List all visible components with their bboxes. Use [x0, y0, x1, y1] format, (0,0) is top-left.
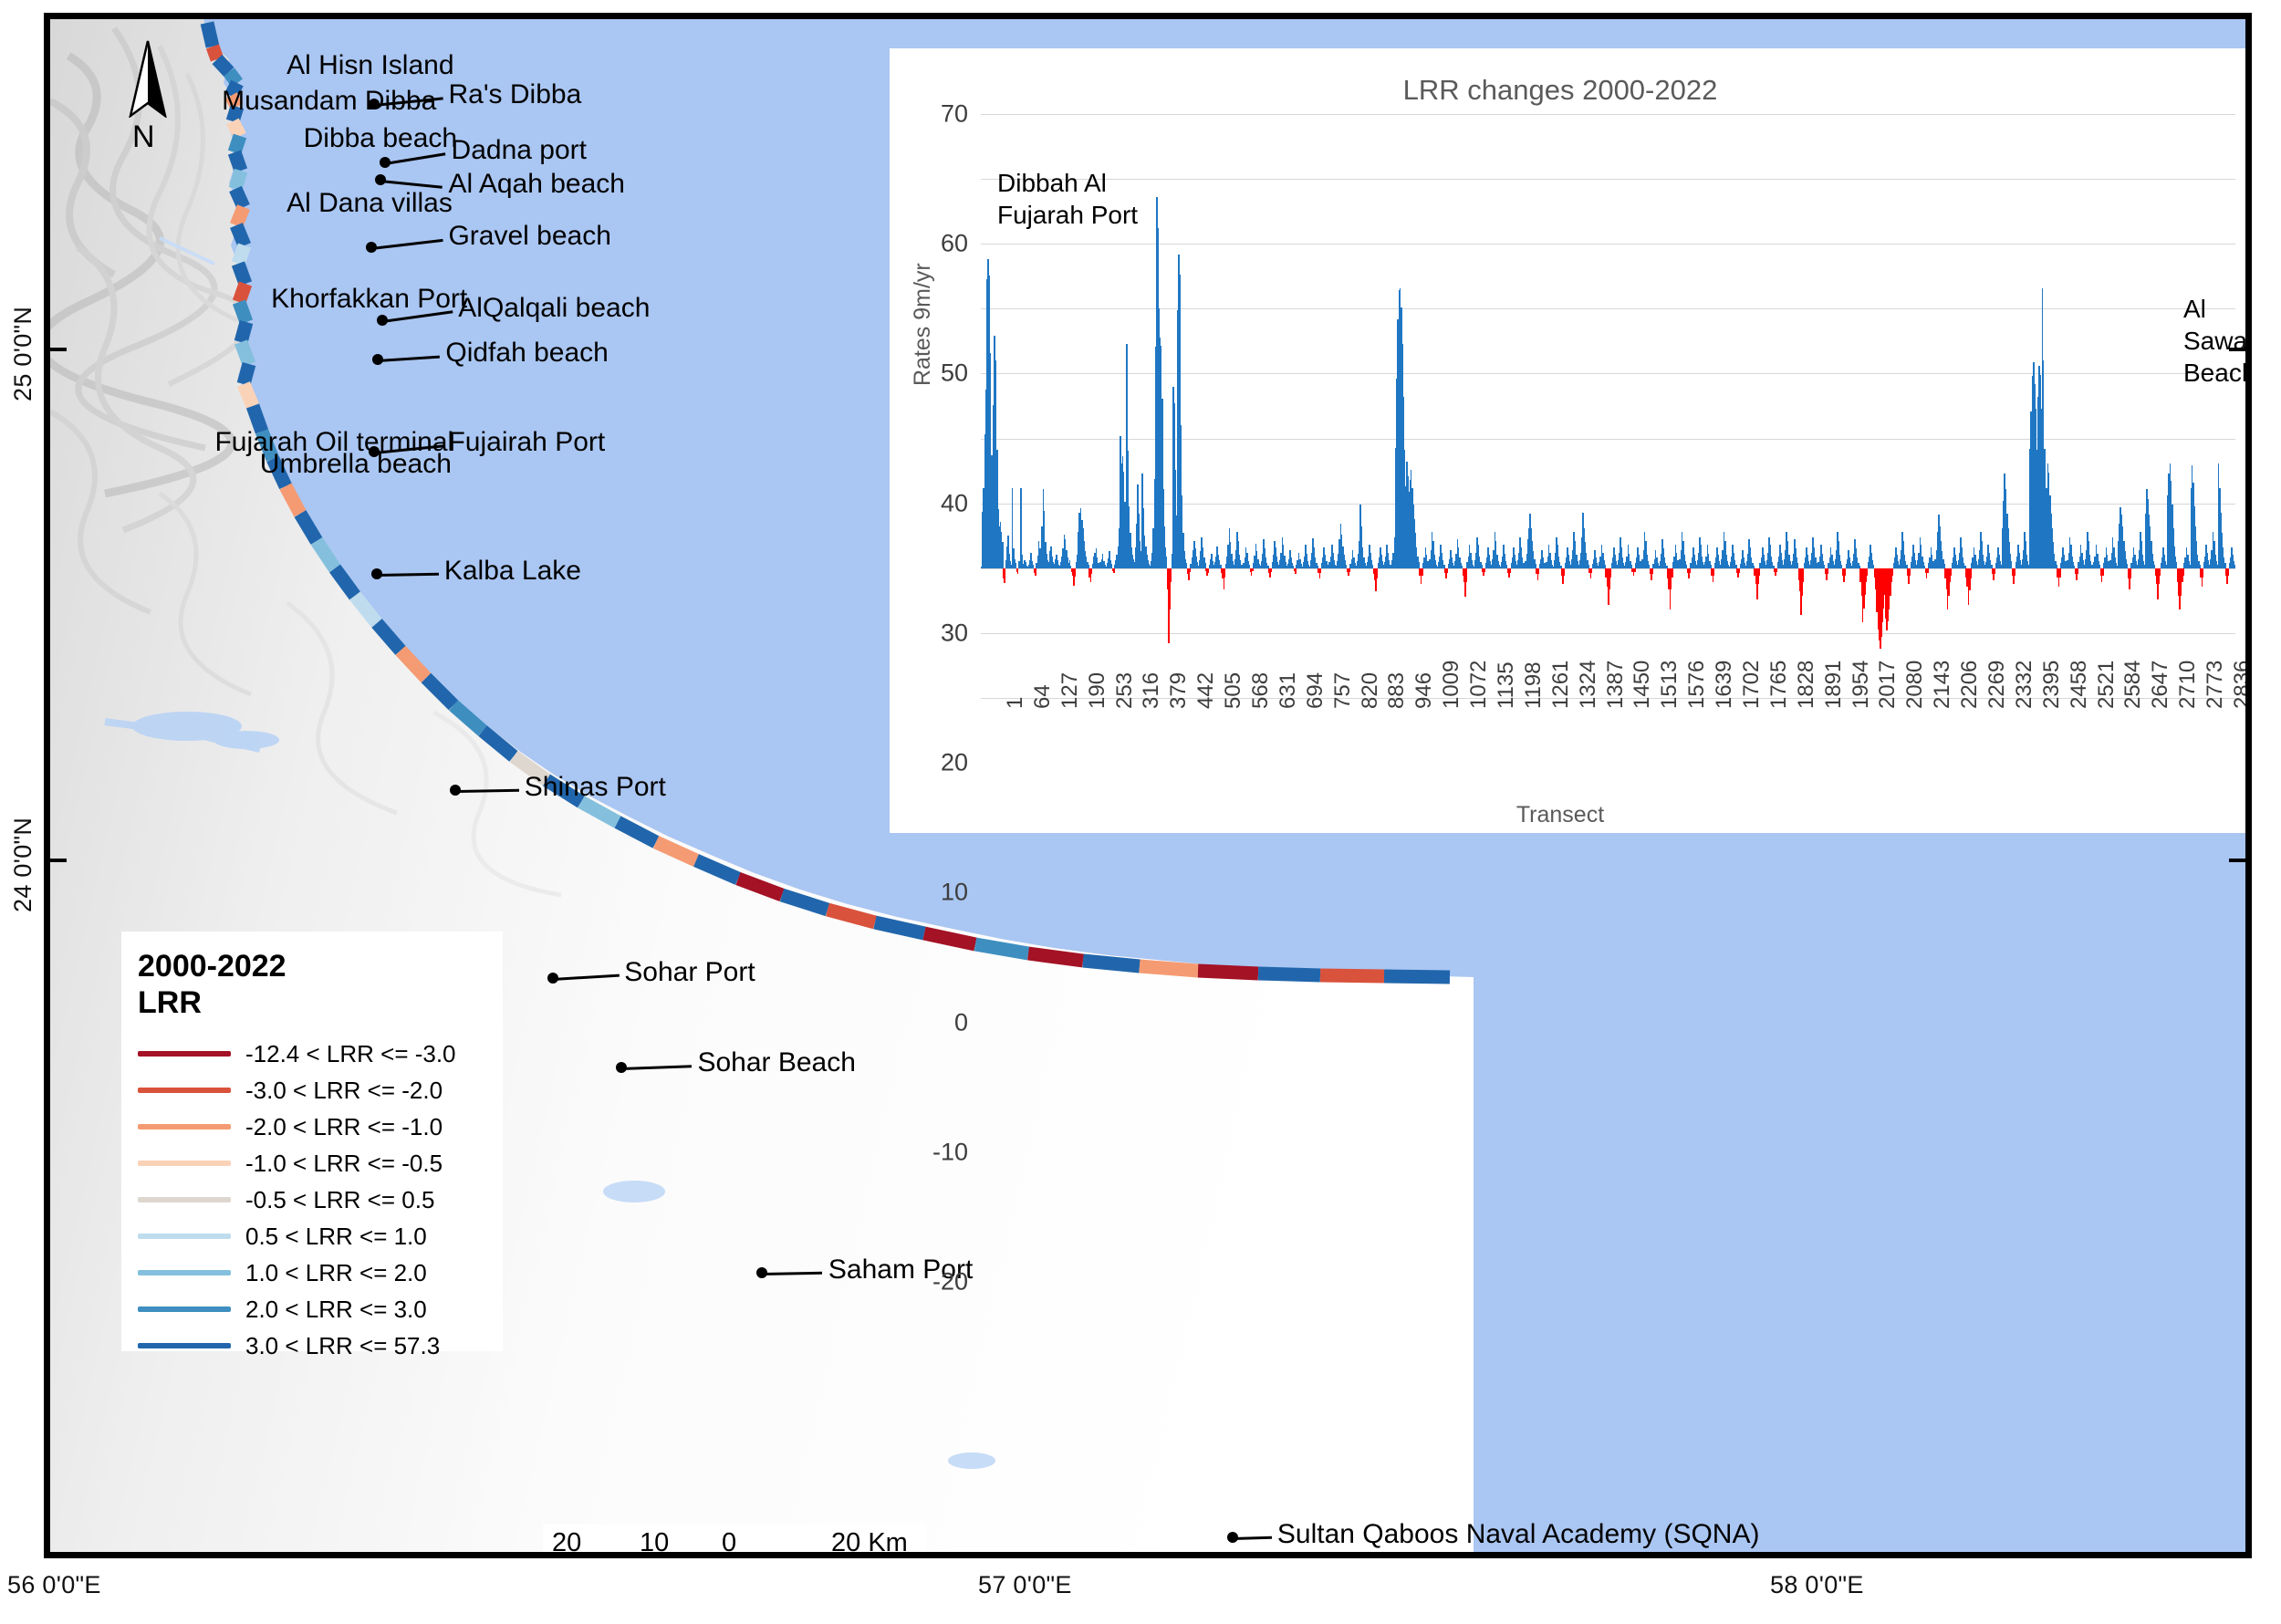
legend-color-swatch [138, 1343, 231, 1348]
chart-bar [1166, 557, 1168, 568]
chart-annotation-dibbah: Dibbah Al Fujarah Port [997, 167, 1143, 231]
chart-x-tick-label: 2080 [1902, 661, 1928, 709]
chart-bar [1091, 568, 1093, 574]
legend-class-label: -12.4 < LRR <= -3.0 [245, 1040, 456, 1068]
place-label: Umbrella beach [260, 450, 452, 479]
legend-color-swatch [138, 1234, 231, 1239]
chart-y-tick-label: 40 [941, 489, 968, 517]
chart-bar [1004, 568, 1005, 583]
map-frame: N 2000-2022 LRR -12.4 < LRR <= -3.0-3.0 … [44, 13, 2252, 1558]
chart-y-tick-label: 50 [941, 359, 968, 388]
map-legend: 2000-2022 LRR -12.4 < LRR <= -3.0-3.0 < … [121, 932, 503, 1351]
chart-bar [1776, 568, 1778, 572]
chart-x-tick-label: 1324 [1576, 661, 1601, 709]
north-arrow-icon [121, 39, 174, 118]
place-label: Kalba Lake [444, 557, 581, 586]
chart-x-tick-label: 2206 [1957, 661, 1983, 709]
chart-y-tick-label: 60 [941, 230, 968, 258]
legend-title-lrr: LRR [138, 984, 494, 1021]
chart-x-tick-label: 2710 [2175, 661, 2201, 709]
chart-bar [1349, 568, 1350, 572]
legend-color-swatch [138, 1161, 231, 1166]
chart-bar [1927, 568, 1929, 574]
chart-x-tick-label: 253 [1112, 672, 1138, 709]
chart-x-tick-label: 127 [1057, 672, 1083, 709]
chart-bar [1447, 568, 1449, 574]
chart-x-tick-label: 2017 [1875, 661, 1901, 709]
chart-bar [1002, 542, 1004, 568]
chart-x-tick-label: 820 [1358, 672, 1383, 709]
chart-bar [1803, 568, 1805, 582]
place-marker-dot [616, 1062, 627, 1073]
chart-bar [1609, 568, 1611, 578]
chart-x-tick-label: 2332 [2012, 661, 2037, 709]
chart-x-tick-label: 2143 [1930, 661, 1955, 709]
chart-y-tick-label: 70 [941, 100, 968, 129]
chart-bar [1320, 568, 1322, 573]
chart-x-tick-label: 1513 [1657, 661, 1682, 709]
chart-bars [981, 114, 2235, 698]
chart-x-tick-label: 1 [1003, 697, 1028, 709]
tick-lat-24-right [2229, 859, 2245, 862]
chart-bar [2203, 568, 2204, 578]
chart-title: LRR changes 2000-2022 [890, 74, 2231, 107]
place-label: Shinas Port [525, 773, 666, 802]
place-marker-dot [380, 157, 391, 168]
chart-bar [1910, 568, 1911, 577]
chart-bar [1970, 568, 1972, 578]
chart-x-tick-label: 2395 [2039, 661, 2065, 709]
chart-x-tick-label: 946 [1411, 672, 1437, 709]
place-label: Qidfah beach [445, 338, 608, 368]
chart-x-tick-label: 64 [1030, 684, 1056, 709]
tick-lat-25-right [2229, 348, 2245, 351]
chart-x-tick-label: 1954 [1849, 661, 1874, 709]
inset-chart: LRR changes 2000-2022 Rates 9m/yr 706050… [890, 48, 2252, 833]
place-label: AlQalqali beach [458, 294, 650, 323]
chart-bar [1224, 568, 1226, 578]
chart-x-tick-label: 757 [1330, 672, 1356, 709]
chart-x-axis-label: Transect [890, 802, 2231, 828]
chart-bar [1827, 568, 1828, 574]
legend-class-label: 0.5 < LRR <= 1.0 [245, 1223, 427, 1251]
legend-row: -1.0 < LRR <= -0.5 [138, 1145, 494, 1182]
chart-bar [1189, 568, 1191, 572]
chart-bar [1739, 568, 1741, 573]
chart-bar [1651, 568, 1653, 574]
chart-y-tick-label: 10 [941, 879, 968, 907]
chart-x-tick-label: 2521 [2094, 661, 2120, 709]
legend-color-swatch [138, 1270, 231, 1275]
chart-bar [1591, 568, 1593, 574]
scale-bar-labels: 20 10 0 20 Km [548, 1528, 921, 1558]
legend-row: 2.0 < LRR <= 3.0 [138, 1291, 494, 1327]
chart-x-tick-label: 2836 [2230, 661, 2252, 709]
place-marker-dot [1227, 1532, 1238, 1543]
chart-bar [2077, 568, 2078, 574]
chart-bar [1113, 568, 1115, 574]
chart-bar [2102, 568, 2104, 576]
chart-x-tick-label: 1828 [1794, 661, 1819, 709]
tick-lat-25 [50, 348, 67, 351]
legend-color-swatch [138, 1051, 231, 1057]
north-arrow-label: N [132, 120, 155, 155]
chart-x-tick-label: 1387 [1603, 661, 1629, 709]
chart-y-tick-label: -20 [932, 1268, 968, 1296]
chart-bar [1376, 568, 1378, 578]
legend-color-swatch [138, 1088, 231, 1093]
coord-lat-bottom: 24 0'0"N [9, 817, 37, 912]
place-label: Sultan Qaboos Naval Academy (SQNA) [1277, 1520, 1760, 1549]
place-label: Fujairah Port [448, 428, 605, 457]
chart-x-tick-label: 442 [1193, 672, 1219, 709]
place-label: Ra's Dibba [448, 80, 581, 109]
scale-label-10: 10 [640, 1528, 669, 1558]
chart-bar [1950, 568, 1952, 576]
chart-bar [1017, 568, 1019, 574]
chart-bar [1844, 568, 1846, 576]
scale-label-0: 0 [722, 1528, 736, 1558]
chart-plot-area: 706050403020100-10-20 [981, 114, 2235, 698]
scale-bar: 20 10 0 20 Km [543, 1525, 926, 1558]
chart-x-tick-label: 1702 [1739, 661, 1765, 709]
place-label: Gravel beach [448, 222, 610, 251]
coord-lon-left: 56 0'0"E [7, 1571, 101, 1599]
chart-bar [2160, 568, 2161, 576]
chart-bar [1270, 568, 1272, 572]
legend-row: -12.4 < LRR <= -3.0 [138, 1036, 494, 1072]
chart-x-tick-label: 694 [1303, 672, 1328, 709]
chart-x-tick-labels: 1641271902533163794425055686316947578208… [981, 707, 2235, 795]
chart-bar [1995, 568, 1996, 574]
place-label: Al Hisn Island [286, 51, 453, 80]
legend-class-label: 2.0 < LRR <= 3.0 [245, 1296, 427, 1324]
legend-row: 1.0 < LRR <= 2.0 [138, 1254, 494, 1291]
legend-class-label: -2.0 < LRR <= -1.0 [245, 1113, 443, 1141]
chart-bar [1295, 568, 1297, 574]
legend-color-swatch [138, 1306, 231, 1312]
chart-x-tick-label: 1009 [1439, 661, 1464, 709]
chart-y-axis-label: Rates 9m/yr [910, 263, 936, 386]
chart-bar [1422, 568, 1423, 576]
chart-y-tick-label: 0 [954, 1008, 968, 1036]
chart-annotation-sawadi: Al Sawadi Beach [2183, 293, 2252, 389]
chart-x-tick-label: 2269 [1984, 661, 2010, 709]
place-label: Dadna port [452, 136, 587, 165]
legend-class-label: 1.0 < LRR <= 2.0 [245, 1259, 427, 1287]
legend-row: -2.0 < LRR <= -1.0 [138, 1109, 494, 1145]
place-label: Al Aqah beach [448, 170, 625, 199]
tick-lat-24 [50, 859, 67, 862]
chart-bar [1713, 568, 1715, 576]
place-label: Al Dana villas [286, 189, 453, 218]
chart-x-tick-label: 1135 [1494, 661, 1519, 709]
chart-bar [1208, 568, 1210, 573]
chart-bar [1564, 568, 1566, 577]
chart-x-tick-label: 1639 [1712, 661, 1737, 709]
place-marker-dot [366, 242, 377, 253]
chart-bar [1867, 568, 1869, 576]
chart-x-tick-label: 316 [1139, 672, 1164, 709]
figure-root: N 2000-2022 LRR -12.4 < LRR <= -3.0-3.0 … [0, 0, 2281, 1624]
legend-title-years: 2000-2022 [138, 948, 494, 984]
tick-lon-58 [1857, 1552, 1860, 1558]
chart-bar [1484, 568, 1486, 572]
chart-x-tick-label: 883 [1384, 672, 1410, 709]
chart-bar [1252, 568, 1254, 572]
chart-bar [1758, 568, 1760, 576]
chart-x-tick-label: 1891 [1821, 661, 1847, 709]
chart-x-tick-label: 1765 [1766, 661, 1792, 709]
place-marker-dot [377, 315, 388, 326]
tick-lon-57 [1061, 1552, 1065, 1558]
chart-y-tick-label: 30 [941, 619, 968, 647]
chart-bar [1538, 568, 1540, 574]
chart-x-tick-label: 631 [1276, 672, 1301, 709]
chart-bar [1035, 568, 1036, 577]
place-label: Al-Mussanah Port [1257, 1555, 1474, 1558]
chart-x-tick-label: 1576 [1684, 661, 1710, 709]
chart-bar [2011, 561, 2013, 568]
place-label: Khorfakkan Port [271, 285, 467, 314]
place-marker-dot [547, 973, 558, 984]
chart-x-tick-label: 1450 [1630, 661, 1655, 709]
chart-bar [1171, 568, 1172, 582]
chart-x-tick-label: 379 [1166, 672, 1192, 709]
scale-label-20-left: 20 [552, 1528, 581, 1558]
legend-row: -3.0 < LRR <= -2.0 [138, 1072, 494, 1109]
place-marker-dot [369, 99, 380, 109]
chart-x-tick-label: 2458 [2067, 661, 2092, 709]
chart-y-tick-label: 20 [941, 749, 968, 777]
chart-bar [2014, 568, 2015, 577]
chart-bar [2234, 565, 2236, 568]
chart-bar [1634, 568, 1636, 572]
chart-bar [2228, 568, 2230, 577]
chart-bar [1075, 568, 1077, 577]
legend-class-list: -12.4 < LRR <= -3.0-3.0 < LRR <= -2.0-2.… [138, 1036, 494, 1364]
chart-bar [1509, 568, 1511, 573]
chart-y-tick-label: -10 [932, 1138, 968, 1166]
tick-lon-56 [185, 1552, 189, 1558]
scale-label-20-right: 20 Km [831, 1528, 908, 1558]
legend-color-swatch [138, 1124, 231, 1130]
legend-row: -0.5 < LRR <= 0.5 [138, 1182, 494, 1218]
legend-row: 0.5 < LRR <= 1.0 [138, 1218, 494, 1254]
legend-class-label: -0.5 < LRR <= 0.5 [245, 1186, 434, 1214]
legend-class-label: -3.0 < LRR <= -2.0 [245, 1077, 443, 1105]
legend-row: 3.0 < LRR <= 57.3 [138, 1327, 494, 1364]
legend-class-label: -1.0 < LRR <= -0.5 [245, 1150, 443, 1178]
chart-bar [1689, 568, 1691, 574]
north-arrow: N [121, 39, 174, 140]
chart-bar [1891, 568, 1893, 576]
chart-x-tick-label: 505 [1221, 672, 1246, 709]
legend-class-label: 3.0 < LRR <= 57.3 [245, 1332, 440, 1360]
chart-bar [2182, 568, 2184, 576]
place-marker-dot [371, 568, 382, 579]
legend-color-swatch [138, 1197, 231, 1202]
chart-bar [1465, 568, 1467, 582]
place-label: Dibba beach [304, 124, 457, 153]
place-label: Sohar Port [624, 958, 755, 987]
place-marker-dot [450, 785, 461, 796]
coord-lat-top: 25 0'0"N [9, 307, 37, 401]
place-label: Sohar Beach [697, 1048, 855, 1077]
chart-x-tick-label: 2647 [2148, 661, 2173, 709]
chart-bar [2130, 568, 2131, 578]
coord-lon-right: 58 0'0"E [1770, 1571, 1864, 1599]
chart-x-tick-label: 2773 [2203, 661, 2228, 709]
chart-bar [2059, 568, 2061, 578]
chart-x-tick-label: 2584 [2120, 661, 2146, 709]
coord-lon-mid: 57 0'0"E [978, 1571, 1072, 1599]
place-label: Al Sawadi Beach [1485, 1555, 1693, 1558]
chart-x-tick-label: 1198 [1521, 661, 1547, 709]
chart-x-tick-label: 1261 [1548, 661, 1574, 709]
chart-x-tick-label: 1072 [1466, 661, 1492, 709]
chart-x-tick-label: 190 [1085, 672, 1110, 709]
chart-bar [1672, 568, 1673, 578]
chart-x-tick-label: 568 [1248, 672, 1274, 709]
